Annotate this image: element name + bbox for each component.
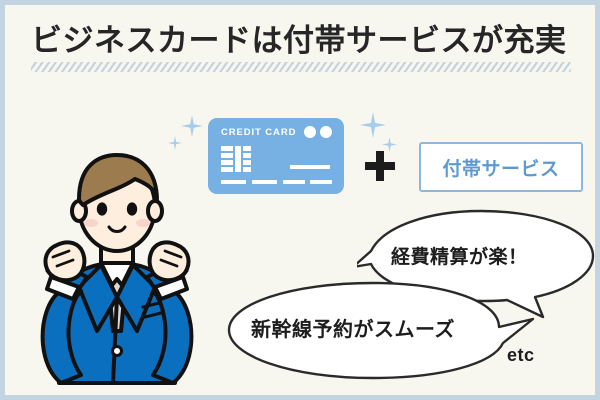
speech-bubble-shinkansen: 新幹線予約がスムーズ <box>213 277 543 389</box>
canvas-background: ビジネスカードは付帯サービスが充実 CREDIT CARD <box>5 5 595 395</box>
etc-label: etc <box>507 345 535 366</box>
businessman-illustration <box>17 145 217 400</box>
speech-bubble-text: 新幹線予約がスムーズ <box>251 313 455 342</box>
speech-bubble-text: 経費精算が楽！ <box>391 242 528 269</box>
card-stripe <box>252 180 277 184</box>
service-badge-label: 付帯サービス <box>442 154 559 181</box>
title-block: ビジネスカードは付帯サービスが充実 <box>31 23 579 72</box>
page-title: ビジネスカードは付帯サービスが充実 <box>31 23 579 60</box>
sparkle-icon <box>181 115 203 137</box>
businessman-figure <box>17 145 217 400</box>
card-chip-icon <box>221 146 251 172</box>
credit-card-illustration: CREDIT CARD <box>208 118 344 194</box>
card-dot-icon <box>320 126 332 138</box>
card-dot-icon <box>304 126 316 138</box>
sparkle-icon <box>360 112 386 138</box>
card-stripe <box>310 180 332 184</box>
card-stripe <box>221 180 246 184</box>
sparkle-icon <box>382 137 397 152</box>
card-stripe <box>290 165 330 169</box>
infographic-canvas: ビジネスカードは付帯サービスが充実 CREDIT CARD <box>0 0 600 400</box>
service-badge: 付帯サービス <box>419 142 583 192</box>
credit-card-label: CREDIT CARD <box>221 127 296 138</box>
title-underline-stripes <box>31 62 571 72</box>
card-stripe <box>283 180 305 184</box>
plus-icon <box>365 151 395 181</box>
